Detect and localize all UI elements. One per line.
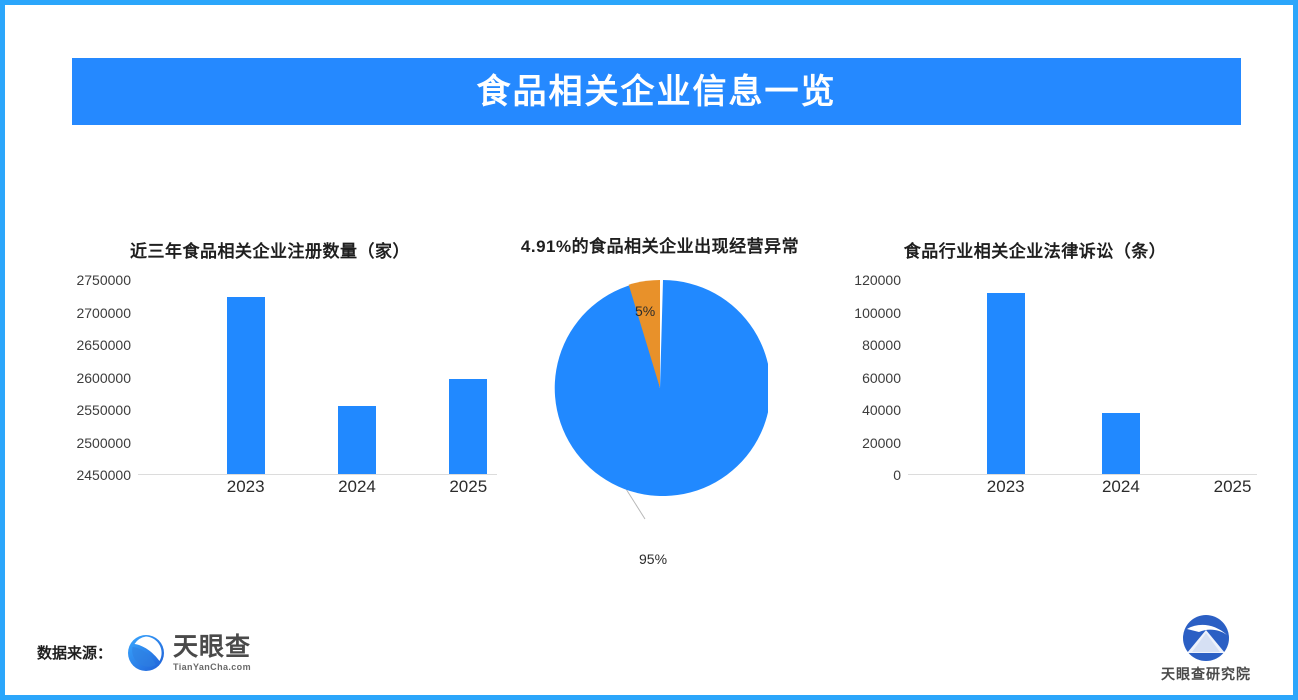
chart-panel-litigation: 食品行业相关企业法律诉讼（条） 120000 100000 80000 6000… [805,220,1265,590]
tianyancha-eye-icon [126,633,166,673]
y-tick: 0 [893,468,901,482]
y-tick: 2650000 [76,338,131,352]
x-label-2023: 2023 [987,478,1025,495]
institute-mountain-icon [1175,613,1237,663]
y-tick: 60000 [862,371,901,385]
bar-2023[interactable] [227,297,265,474]
infographic-page: 食品相关企业信息一览 近三年食品相关企业注册数量（家） 2750000 2700… [0,0,1298,700]
bar-2025[interactable] [449,379,487,474]
tianyancha-logo[interactable]: 天眼查 TianYanCha.com [126,633,251,673]
pie-slices [552,280,768,496]
tianyancha-brand-cn: 天眼查 [173,635,251,660]
y-tick: 2550000 [76,403,131,417]
bar-chart-registrations: 2750000 2700000 2650000 2600000 2550000 … [35,275,505,545]
y-axis-registrations: 2750000 2700000 2650000 2600000 2550000 … [35,275,131,490]
y-tick: 120000 [854,273,901,287]
y-tick: 20000 [862,436,901,450]
y-axis-litigation: 120000 100000 80000 60000 40000 20000 0 [805,275,901,490]
pie-slice-normal[interactable] [555,280,768,496]
y-tick: 100000 [854,306,901,320]
x-label-2025: 2025 [1214,478,1252,495]
x-axis-registrations: 2023 2024 2025 [138,478,497,508]
y-tick: 40000 [862,403,901,417]
chart-title-abnormal-operations: 4.91%的食品相关企业出现经营异常 [495,238,825,255]
pie-label-abnormal: 5% [635,304,655,318]
chart-panel-registrations: 近三年食品相关企业注册数量（家） 2750000 2700000 2650000… [35,220,505,590]
tianyancha-wordmark: 天眼查 TianYanCha.com [173,635,251,672]
chart-title-litigation: 食品行业相关企业法律诉讼（条） [805,243,1265,260]
institute-logo-block[interactable]: 天眼查研究院 [1161,613,1251,681]
bar-2024[interactable] [338,406,376,474]
y-tick: 2450000 [76,468,131,482]
page-title: 食品相关企业信息一览 [477,75,837,109]
institute-name: 天眼查研究院 [1161,667,1251,681]
x-axis-line [908,474,1257,475]
tianyancha-brand-en: TianYanCha.com [173,663,251,672]
y-tick: 2700000 [76,306,131,320]
pie-chart-abnormal-operations: 5% 95% [495,280,825,580]
y-tick: 2500000 [76,436,131,450]
pie-label-normal: 95% [639,552,667,566]
chart-title-registrations: 近三年食品相关企业注册数量（家） [35,243,505,260]
y-tick: 2750000 [76,273,131,287]
y-tick: 2600000 [76,371,131,385]
y-tick: 80000 [862,338,901,352]
data-source-label: 数据来源： [37,646,112,661]
x-label-2024: 2024 [1102,478,1140,495]
header-banner: 食品相关企业信息一览 [72,58,1241,125]
x-label-2025: 2025 [449,478,487,495]
bar-2023[interactable] [987,293,1025,474]
x-axis-line [138,474,497,475]
bar-chart-litigation: 120000 100000 80000 60000 40000 20000 0 … [805,275,1265,545]
bar-2024[interactable] [1102,413,1140,474]
data-source-block: 数据来源： 天眼查 TianYanCha.com [37,633,251,673]
chart-panel-abnormal-operations: 4.91%的食品相关企业出现经营异常 5% 95% [495,220,825,590]
x-axis-litigation: 2023 2024 2025 [908,478,1257,508]
x-label-2023: 2023 [227,478,265,495]
plot-area-litigation [908,280,1257,475]
x-label-2024: 2024 [338,478,376,495]
plot-area-registrations [138,280,497,475]
